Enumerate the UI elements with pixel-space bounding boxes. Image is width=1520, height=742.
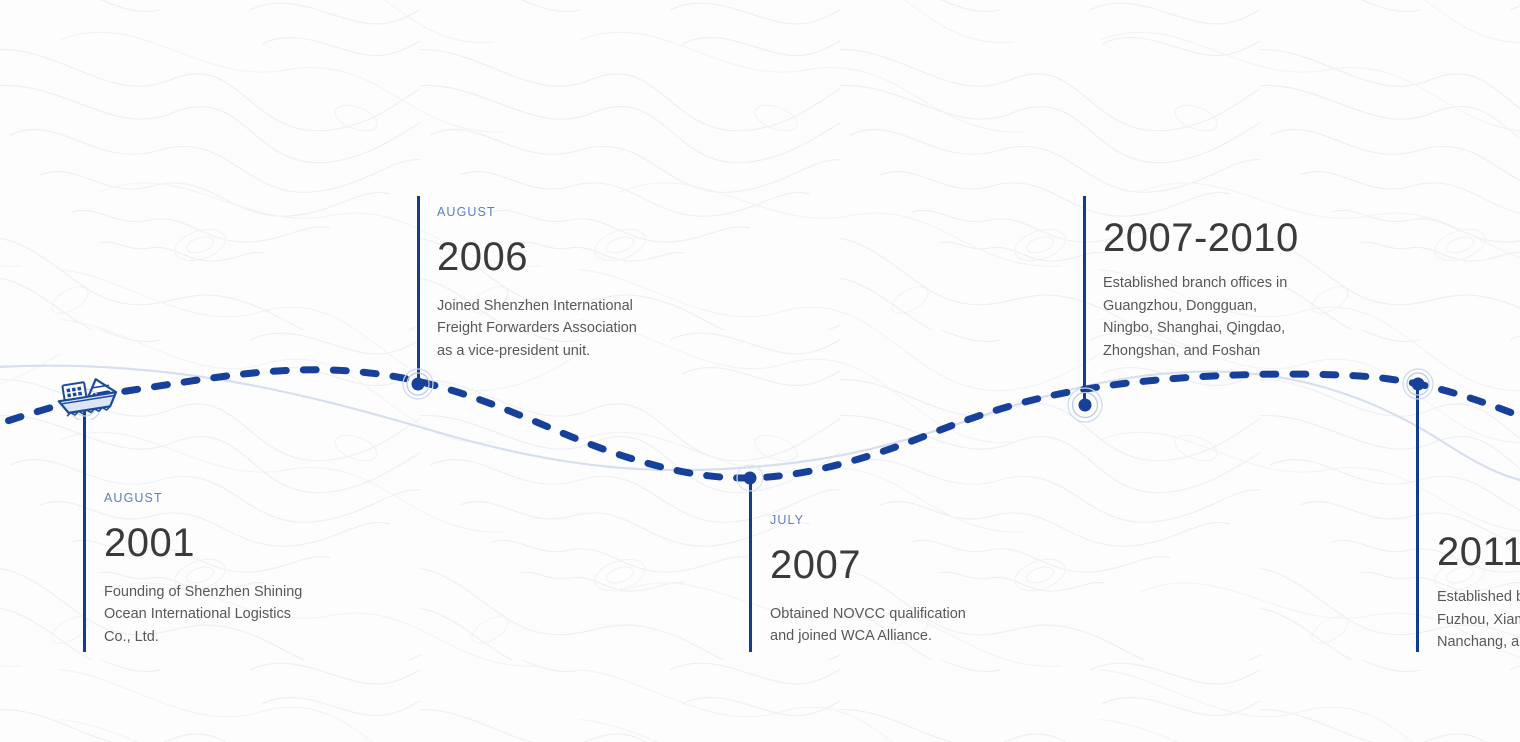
description-line: Nanchang, and more (1437, 631, 1520, 654)
description-line: Established branch offices in (1437, 586, 1520, 609)
year-label-2011: 2011 (1437, 532, 1520, 572)
card-2011: 2011 Established branch offices in Fuzho… (1437, 514, 1520, 654)
description-2011: Established branch offices in Fuzhou, Xi… (1437, 586, 1520, 654)
stem-2011 (1416, 382, 1419, 652)
description-line: Fuzhou, Xiamen, Wuhan, (1437, 609, 1520, 632)
timeline-event-2011[interactable]: 2011 Established branch offices in Fuzho… (0, 0, 1520, 742)
timeline-page: AUGUST 2001 Founding of Shenzhen Shining… (0, 0, 1520, 742)
